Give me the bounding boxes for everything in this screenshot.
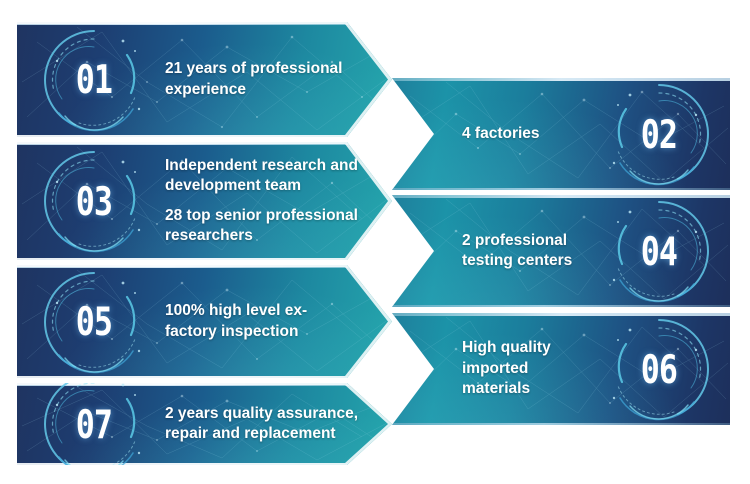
infographic-root: 01 21 years of professional experience	[0, 0, 750, 484]
item-text-04: 2 professional testing centers	[444, 231, 600, 272]
item-number-04: 04	[641, 232, 677, 271]
info-panel-06[interactable]: 06 High quality imported materials	[392, 313, 730, 425]
number-badge-04: 04	[600, 195, 718, 307]
item-text-line: 100% high level ex-factory inspection	[165, 301, 358, 342]
item-text-01: 21 years of professional experience	[153, 59, 358, 100]
item-number-02: 02	[641, 115, 677, 154]
info-panel-04[interactable]: 04 2 professional testing centers	[392, 195, 730, 307]
item-number-07: 07	[76, 405, 112, 444]
item-number-01: 01	[76, 60, 112, 99]
item-text-line: 4 factories	[462, 124, 590, 144]
item-text-line: 2 years quality assurance, repair and re…	[165, 404, 358, 445]
number-badge-06: 06	[600, 313, 718, 425]
number-badge-03: 03	[35, 142, 153, 260]
item-text-line: 28 top senior professional researchers	[165, 206, 358, 247]
number-badge-02: 02	[600, 78, 718, 190]
item-number-03: 03	[76, 182, 112, 221]
item-number-06: 06	[641, 350, 677, 389]
item-text-line: Independent research and development tea…	[165, 156, 358, 197]
number-badge-07: 07	[35, 383, 153, 465]
item-text-06: High quality imported materials	[444, 338, 600, 399]
item-text-line: 21 years of professional experience	[165, 59, 358, 100]
info-panel-07[interactable]: 07 2 years quality assurance, repair and…	[17, 383, 392, 465]
item-text-line: 2 professional testing centers	[462, 231, 590, 272]
info-panel-02[interactable]: 02 4 factories	[392, 78, 730, 190]
info-panel-03[interactable]: 03 Independent research and development …	[17, 142, 392, 260]
item-number-05: 05	[76, 302, 112, 341]
item-text-05: 100% high level ex-factory inspection	[153, 301, 358, 342]
number-badge-05: 05	[35, 265, 153, 378]
info-panel-01[interactable]: 01 21 years of professional experience	[17, 22, 392, 137]
item-text-line: High quality imported materials	[462, 338, 590, 399]
item-text-02: 4 factories	[444, 124, 600, 144]
item-text-03: Independent research and development tea…	[153, 156, 358, 247]
item-text-07: 2 years quality assurance, repair and re…	[153, 404, 358, 445]
number-badge-01: 01	[35, 22, 153, 137]
info-panel-05[interactable]: 05 100% high level ex-factory inspection	[17, 265, 392, 378]
